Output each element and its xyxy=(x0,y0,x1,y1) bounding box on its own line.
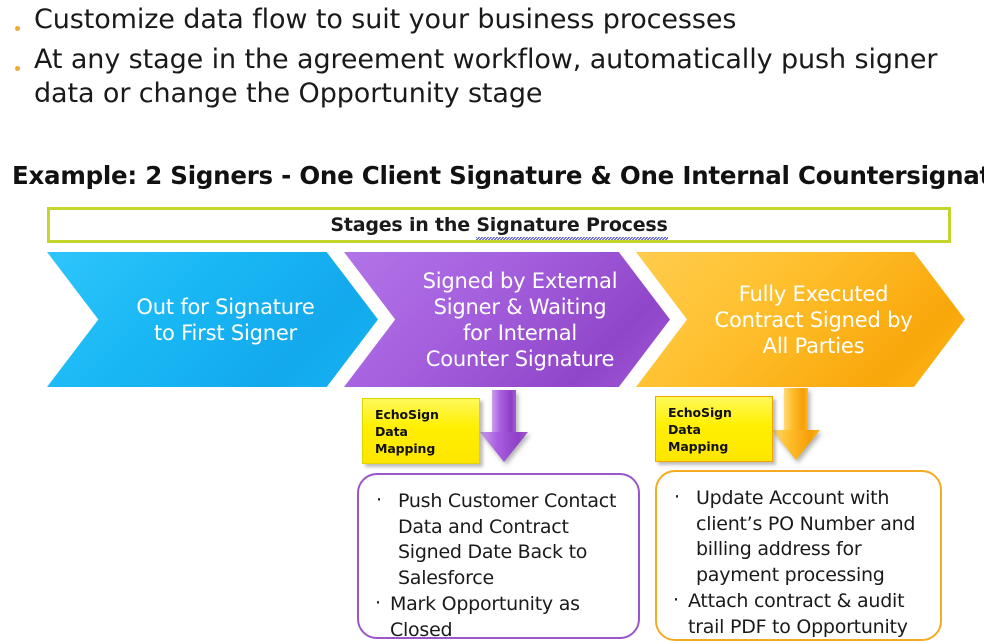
stage-label-line: Counter Signature xyxy=(423,346,618,372)
stage-fully-executed[interactable]: Fully Executed Contract Signed by All Pa… xyxy=(636,252,965,387)
outcome-box-orange: Update Account with client’s PO Number a… xyxy=(655,470,942,641)
stage-label-line: to First Signer xyxy=(136,320,314,346)
stage-label-line: Out for Signature xyxy=(136,294,314,320)
outcome-list: Push Customer Contact Data and Contract … xyxy=(373,489,624,643)
outcome-list-item: Mark Opportunity as Closed xyxy=(373,592,624,643)
stage-signed-external[interactable]: Signed by External Signer & Waiting for … xyxy=(344,252,670,387)
stage-out-for-signature[interactable]: Out for Signature to First Signer xyxy=(47,252,378,387)
arrow-head xyxy=(772,430,820,460)
note-echosign-data-mapping-orange: EchoSign Data Mapping xyxy=(655,396,773,462)
feature-bullet-list: Customize data flow to suit your busines… xyxy=(0,0,984,117)
stage-label-line: Signer & Waiting xyxy=(423,294,618,320)
stage-label: Out for Signature to First Signer xyxy=(94,294,330,346)
outcome-list-item: Attach contract & audit trail PDF to Opp… xyxy=(671,589,926,640)
outcome-list: Update Account with client’s PO Number a… xyxy=(671,486,926,640)
note-echosign-data-mapping-purple: EchoSign Data Mapping xyxy=(362,398,480,464)
bullet-text: At any stage in the agreement workflow, … xyxy=(34,43,984,111)
bullet-dot-icon xyxy=(0,43,34,75)
arrow-shaft xyxy=(784,388,808,432)
stage-label-line: Contract Signed by xyxy=(715,307,913,333)
bullet-text: Customize data flow to suit your busines… xyxy=(34,3,736,37)
list-item: Customize data flow to suit your busines… xyxy=(0,3,984,37)
bullet-dot-icon xyxy=(0,3,34,35)
outcome-box-purple: Push Customer Contact Data and Contract … xyxy=(357,473,640,639)
outcome-list-item: Update Account with client’s PO Number a… xyxy=(671,486,926,588)
stage-label-line: Signed by External xyxy=(423,268,618,294)
down-arrow-icon-purple xyxy=(480,390,528,462)
stage-label: Fully Executed Contract Signed by All Pa… xyxy=(673,281,929,359)
arrow-head xyxy=(480,432,528,462)
stages-title-label: Stages in the Signature Process xyxy=(330,214,667,236)
down-arrow-icon-orange xyxy=(772,388,820,460)
arrow-shaft xyxy=(492,390,516,434)
stage-label-line: All Parties xyxy=(715,333,913,359)
stage-label: Signed by External Signer & Waiting for … xyxy=(381,268,634,372)
outcome-list-item: Push Customer Contact Data and Contract … xyxy=(373,489,624,591)
example-heading: Example: 2 Signers - One Client Signatur… xyxy=(12,161,984,190)
stages-title-prefix: Stages in the xyxy=(330,214,476,236)
stage-label-line: for Internal xyxy=(423,320,618,346)
stages-title-flagged-text: Signature Process xyxy=(476,214,667,236)
list-item: At any stage in the agreement workflow, … xyxy=(0,43,984,111)
stages-title-box: Stages in the Signature Process xyxy=(47,207,951,243)
stage-label-line: Fully Executed xyxy=(715,281,913,307)
